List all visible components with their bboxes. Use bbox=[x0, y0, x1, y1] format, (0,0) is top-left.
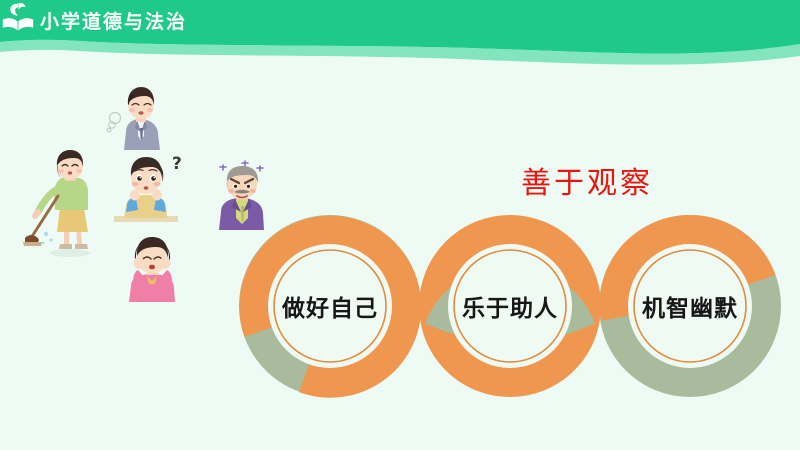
red-heading: 善于观察 bbox=[521, 158, 653, 202]
ring-3-graphic bbox=[598, 214, 782, 398]
page-title: 小学道德与法治 bbox=[40, 7, 187, 34]
illustration-ears-covered-girl bbox=[114, 234, 192, 306]
slide-canvas: 小学道德与法治 善于观察 bbox=[0, 0, 800, 450]
illustration-sighing-man bbox=[104, 84, 178, 152]
illustration-thinking-child: ? bbox=[110, 152, 194, 232]
concept-ring-1[interactable]: 做好自己 bbox=[238, 214, 422, 398]
question-mark-glyph: ? bbox=[172, 154, 182, 174]
ring-2-graphic bbox=[418, 214, 602, 398]
header-bar: 小学道德与法治 bbox=[0, 0, 800, 72]
ring-1-graphic bbox=[238, 214, 422, 398]
concept-ring-3[interactable]: 机智幽默 bbox=[598, 214, 782, 398]
illustration-mopping-woman bbox=[22, 150, 106, 260]
open-book-logo-icon bbox=[0, 0, 36, 34]
concept-ring-2[interactable]: 乐于助人 bbox=[418, 214, 602, 398]
